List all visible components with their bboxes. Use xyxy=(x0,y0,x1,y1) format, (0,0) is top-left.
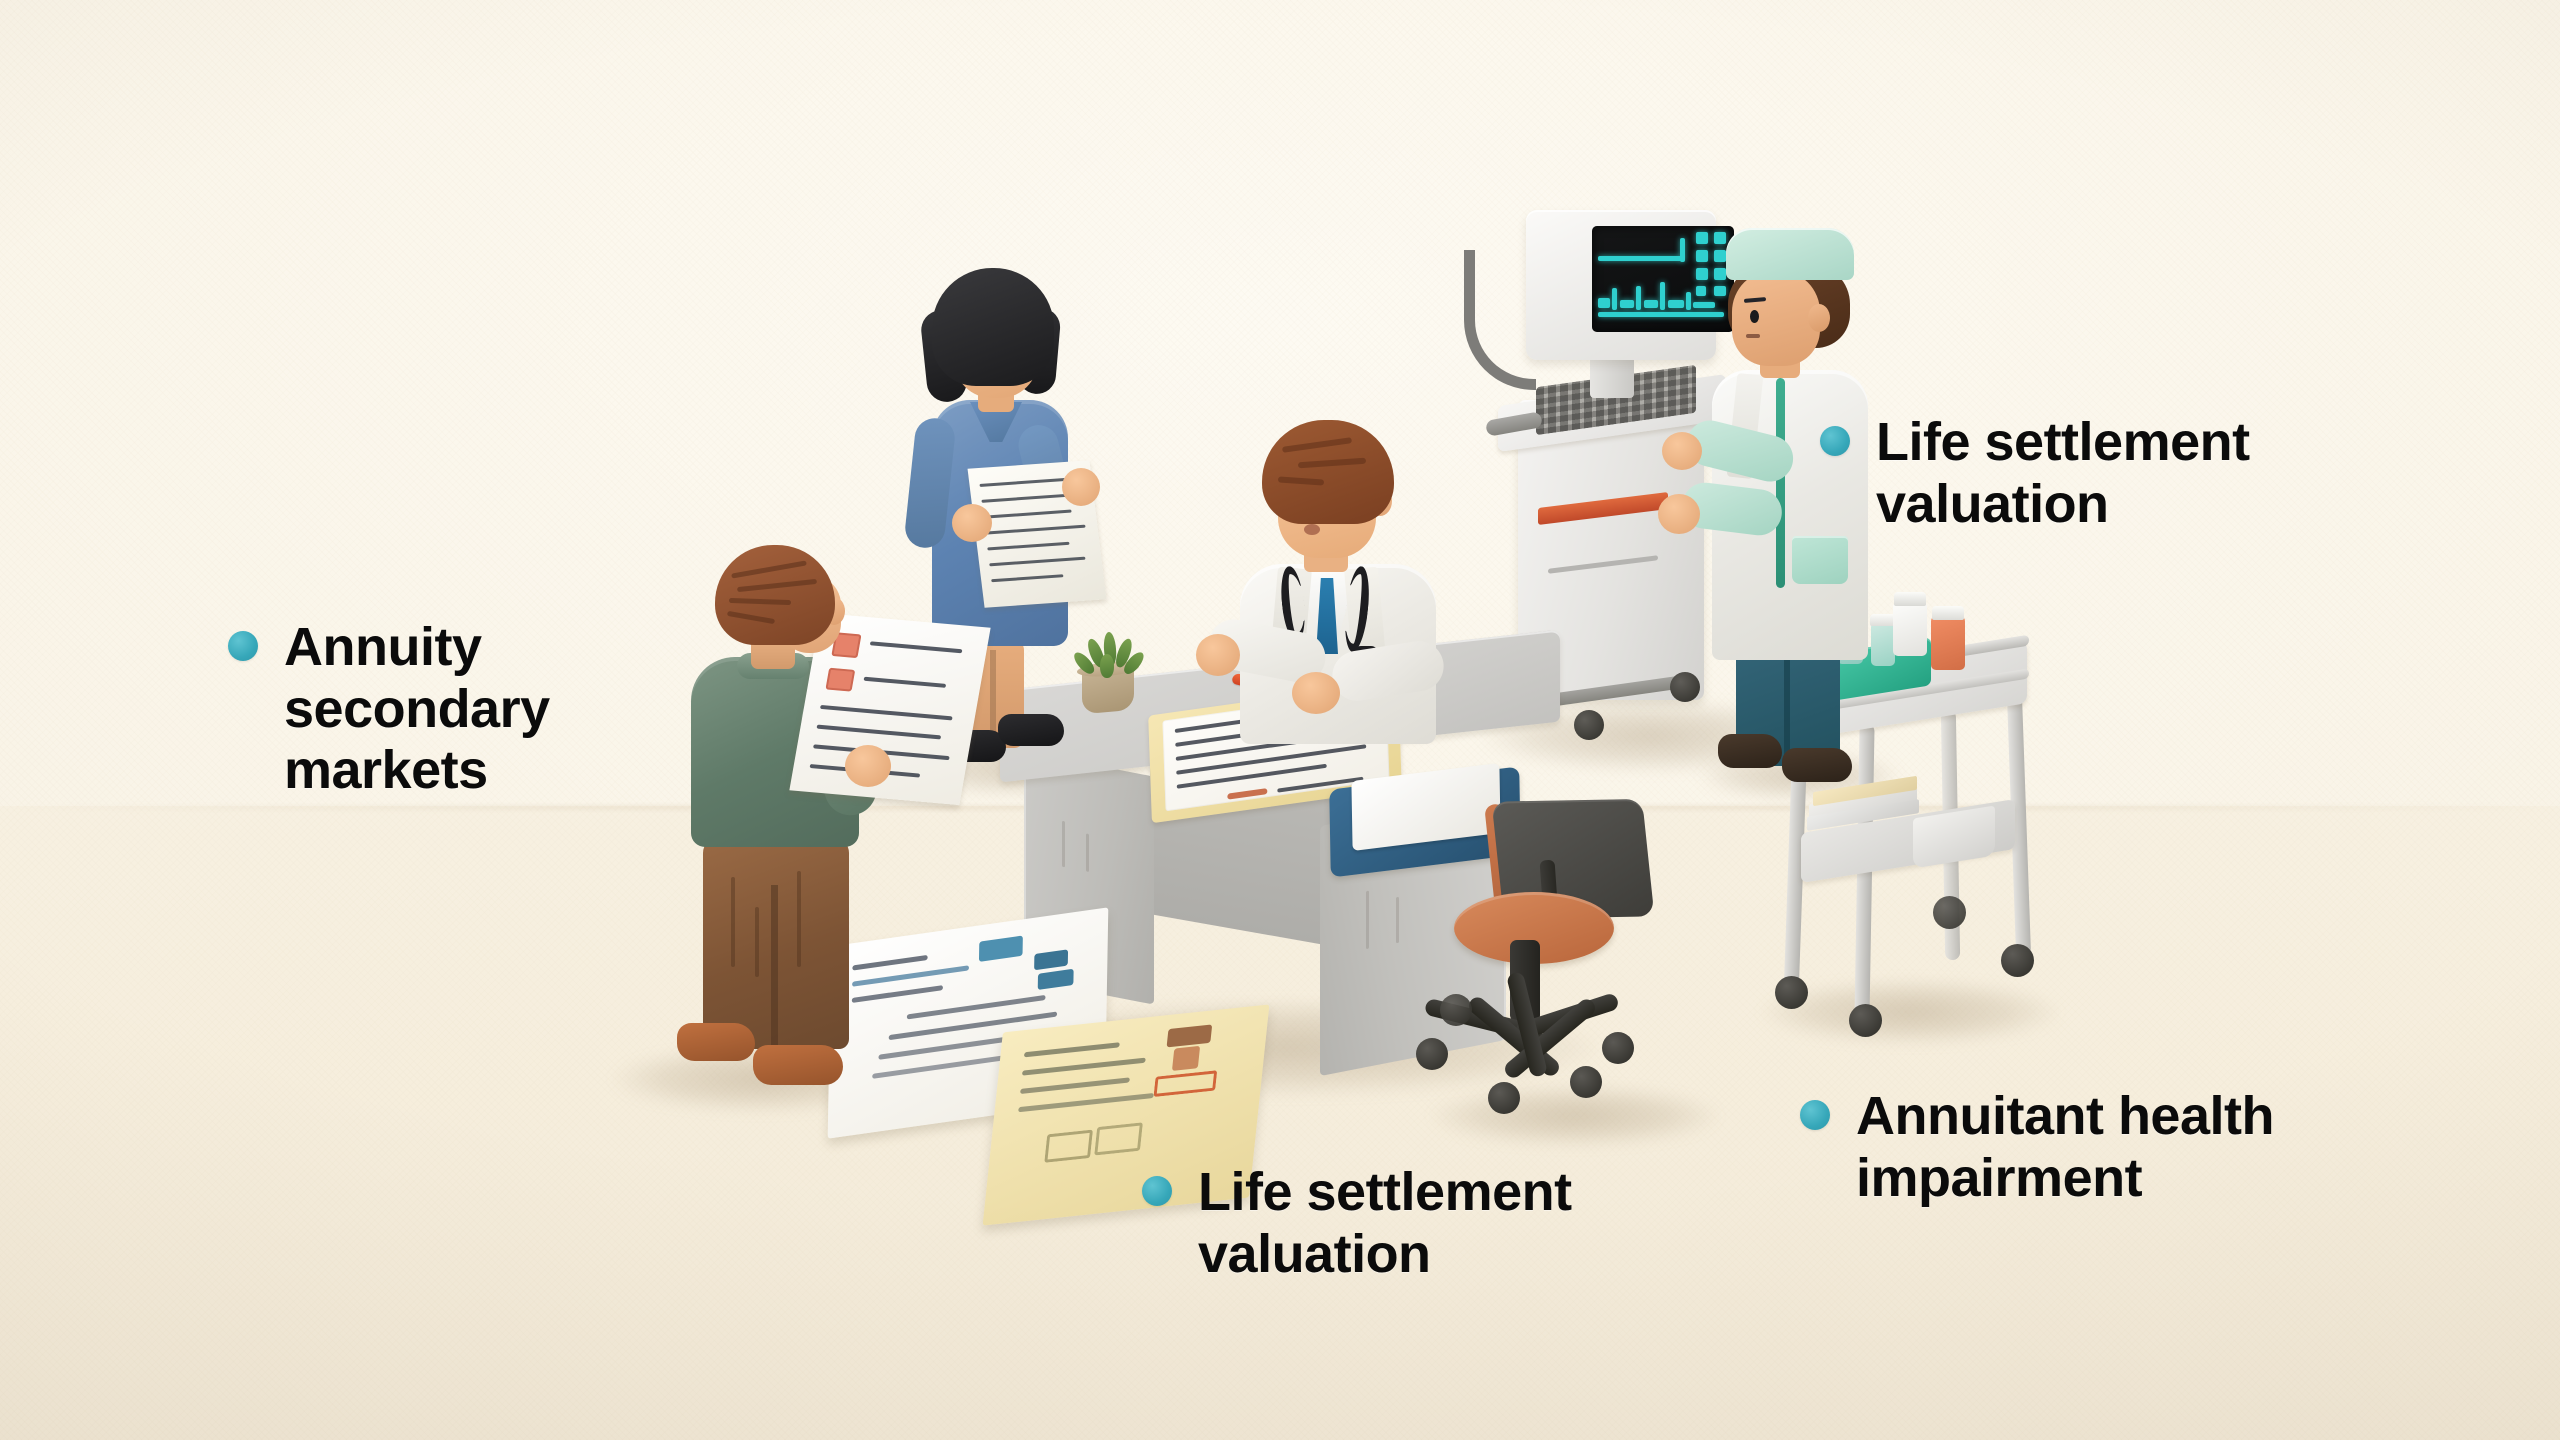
label-annuitant-health-impairment: Annuitant health impairment xyxy=(1800,1086,2396,1209)
office-chair xyxy=(1430,800,1730,1130)
woman-shoe xyxy=(998,714,1064,746)
technician-shoe xyxy=(1718,734,1782,768)
woman-leg-gap xyxy=(990,650,996,742)
technician-hand xyxy=(1662,432,1702,470)
doctor-mouth xyxy=(1304,524,1320,535)
doctor-hair xyxy=(1262,420,1394,524)
man-shoe xyxy=(677,1023,755,1061)
machine-wheel xyxy=(1574,710,1604,740)
cart-wheel xyxy=(1933,896,1966,929)
technician-trouser-seam xyxy=(1784,648,1790,760)
technician-coat-pocket xyxy=(1792,536,1848,584)
doctor-hand xyxy=(1292,672,1340,714)
technician-mouth xyxy=(1746,334,1760,338)
doctor-hand xyxy=(1196,634,1240,676)
label-text: Life settlement valuation xyxy=(1876,412,2376,535)
cart-wheel xyxy=(2001,944,2034,977)
cart-bottle xyxy=(1931,616,1965,670)
chair-caster xyxy=(1416,1038,1448,1070)
chair-caster xyxy=(1570,1066,1602,1098)
technician-ear xyxy=(1808,304,1830,332)
technician-eye xyxy=(1750,310,1759,323)
chair-caster xyxy=(1602,1032,1634,1064)
man-trouser-seam xyxy=(771,885,778,1045)
technician-face xyxy=(1732,270,1820,366)
bullet-dot-icon xyxy=(1142,1176,1172,1206)
label-life-settlement-valuation-top: Life settlement valuation xyxy=(1820,412,2376,535)
label-text: Annuity secondary markets xyxy=(284,617,644,802)
bullet-dot-icon xyxy=(1820,426,1850,456)
cart-wheel xyxy=(1849,1004,1882,1037)
woman-hand xyxy=(1062,468,1100,506)
technician-surgical-cap xyxy=(1726,228,1854,280)
man-hand xyxy=(845,745,891,787)
label-annuity-secondary-markets: Annuity secondary markets xyxy=(228,617,644,802)
man-shoe xyxy=(753,1045,843,1085)
chair-caster xyxy=(1488,1082,1520,1114)
technician-coat-trim xyxy=(1776,378,1785,588)
label-text: Life settlement valuation xyxy=(1198,1162,1668,1285)
woman-hand xyxy=(952,504,992,542)
technician-shoe xyxy=(1782,748,1852,782)
label-life-settlement-valuation-bottom: Life settlement valuation xyxy=(1142,1162,1668,1285)
woman-hair-top xyxy=(932,268,1054,386)
chair-caster xyxy=(1440,994,1472,1026)
bullet-dot-icon xyxy=(228,631,258,661)
cart-wheel xyxy=(1775,976,1808,1009)
label-text: Annuitant health impairment xyxy=(1856,1086,2396,1209)
bullet-dot-icon xyxy=(1800,1100,1830,1130)
man-hair xyxy=(715,545,835,645)
figure-doctor xyxy=(1200,420,1500,820)
illustration-canvas: Annuity secondary markets Life settlemen… xyxy=(0,0,2560,1440)
figure-man-green-sweater xyxy=(655,545,935,1105)
technician-hand xyxy=(1658,494,1700,534)
cart-bottle-cap xyxy=(1932,606,1964,620)
